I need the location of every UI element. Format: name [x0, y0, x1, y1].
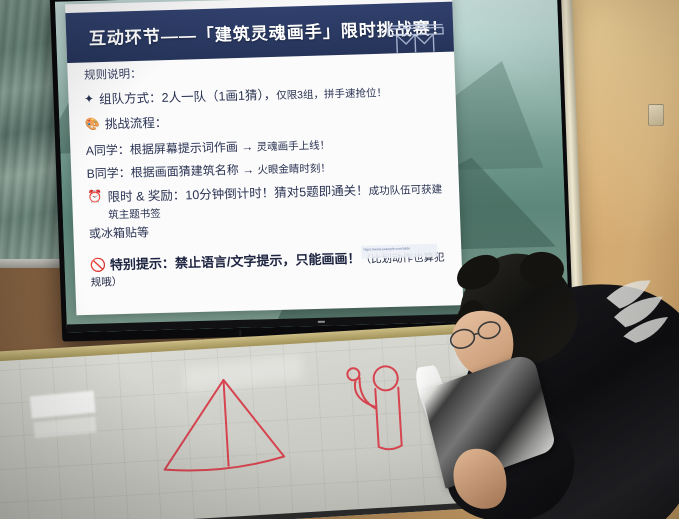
rule-challenge-flow: 🎨 挑战流程：	[85, 108, 441, 134]
pyramid-drawing	[143, 369, 309, 488]
rule-team-text: 2人一队（1画1猜），	[161, 87, 276, 104]
rule-team-label: 组队方式：	[99, 90, 162, 106]
palette-icon: 🎨	[85, 117, 100, 132]
wall-light-switch[interactable]	[648, 104, 664, 126]
rule-flow-label: 挑战流程：	[105, 115, 168, 134]
flow-step-b: B同学：根据画面猜建筑名称 → 火眼金睛时刻！	[86, 157, 442, 182]
slide-body: 规则说明： ✦ 组队方式：2人一队（1画1猜），仅限3组，拼手速抢位！ 🎨 挑战…	[83, 57, 447, 309]
photo-scene: 互动环节——「建筑灵魂画手」限时挑战赛！ 规则说明：	[0, 0, 679, 519]
flow-step-a: A同学：根据屏幕提示词作画 → 灵魂画手上线！	[86, 134, 442, 159]
flow-b-arrow: →	[242, 163, 255, 177]
flow-a-arrow: →	[241, 140, 254, 154]
no-speaking-icon: 🚫	[90, 257, 107, 272]
flow-a-action: 根据屏幕提示词作画	[130, 140, 238, 157]
alarm-clock-icon: ⏰	[87, 189, 102, 204]
student-drawing-at-whiteboard	[420, 252, 679, 519]
flow-a-result: 灵魂画手上线！	[256, 140, 330, 154]
display-power-led	[318, 321, 325, 323]
warning-text: 禁止语言/文字提示，只能画画！	[175, 250, 361, 270]
sparkles-icon: ✦	[84, 91, 95, 106]
rule-team-format: ✦ 组队方式：2人一队（1画1猜），仅限3组，拼手速抢位！	[84, 82, 440, 108]
rules-heading: 规则说明：	[84, 57, 439, 82]
rule-team-tail: 仅限3组，拼手速抢位！	[276, 87, 387, 102]
bridge-structure-line-art-icon	[376, 12, 461, 57]
presentation-slide: 互动环节——「建筑灵魂画手」限时挑战赛！ 规则说明：	[65, 0, 463, 316]
reward-text: 10分钟倒计时！猜对5题即通关！	[185, 183, 369, 202]
flow-b-result: 火眼金睛时刻！	[257, 163, 331, 177]
figure-with-raised-arm-drawing	[343, 360, 425, 462]
flow-b-role: B同学：	[87, 166, 132, 181]
warning-label: 特别提示：	[110, 255, 176, 272]
rule-time-and-reward: ⏰ 限时 & 奖励：10分钟倒计时！猜对5题即通关！成功队伍可获建筑主题书签	[87, 180, 444, 223]
flow-a-role: A同学：	[86, 143, 131, 158]
slide-banner: 互动环节——「建筑灵魂画手」限时挑战赛！	[65, 1, 463, 63]
reward-label: 限时 & 奖励：	[107, 188, 185, 204]
flow-b-action: 根据画面猜建筑名称	[131, 163, 239, 180]
